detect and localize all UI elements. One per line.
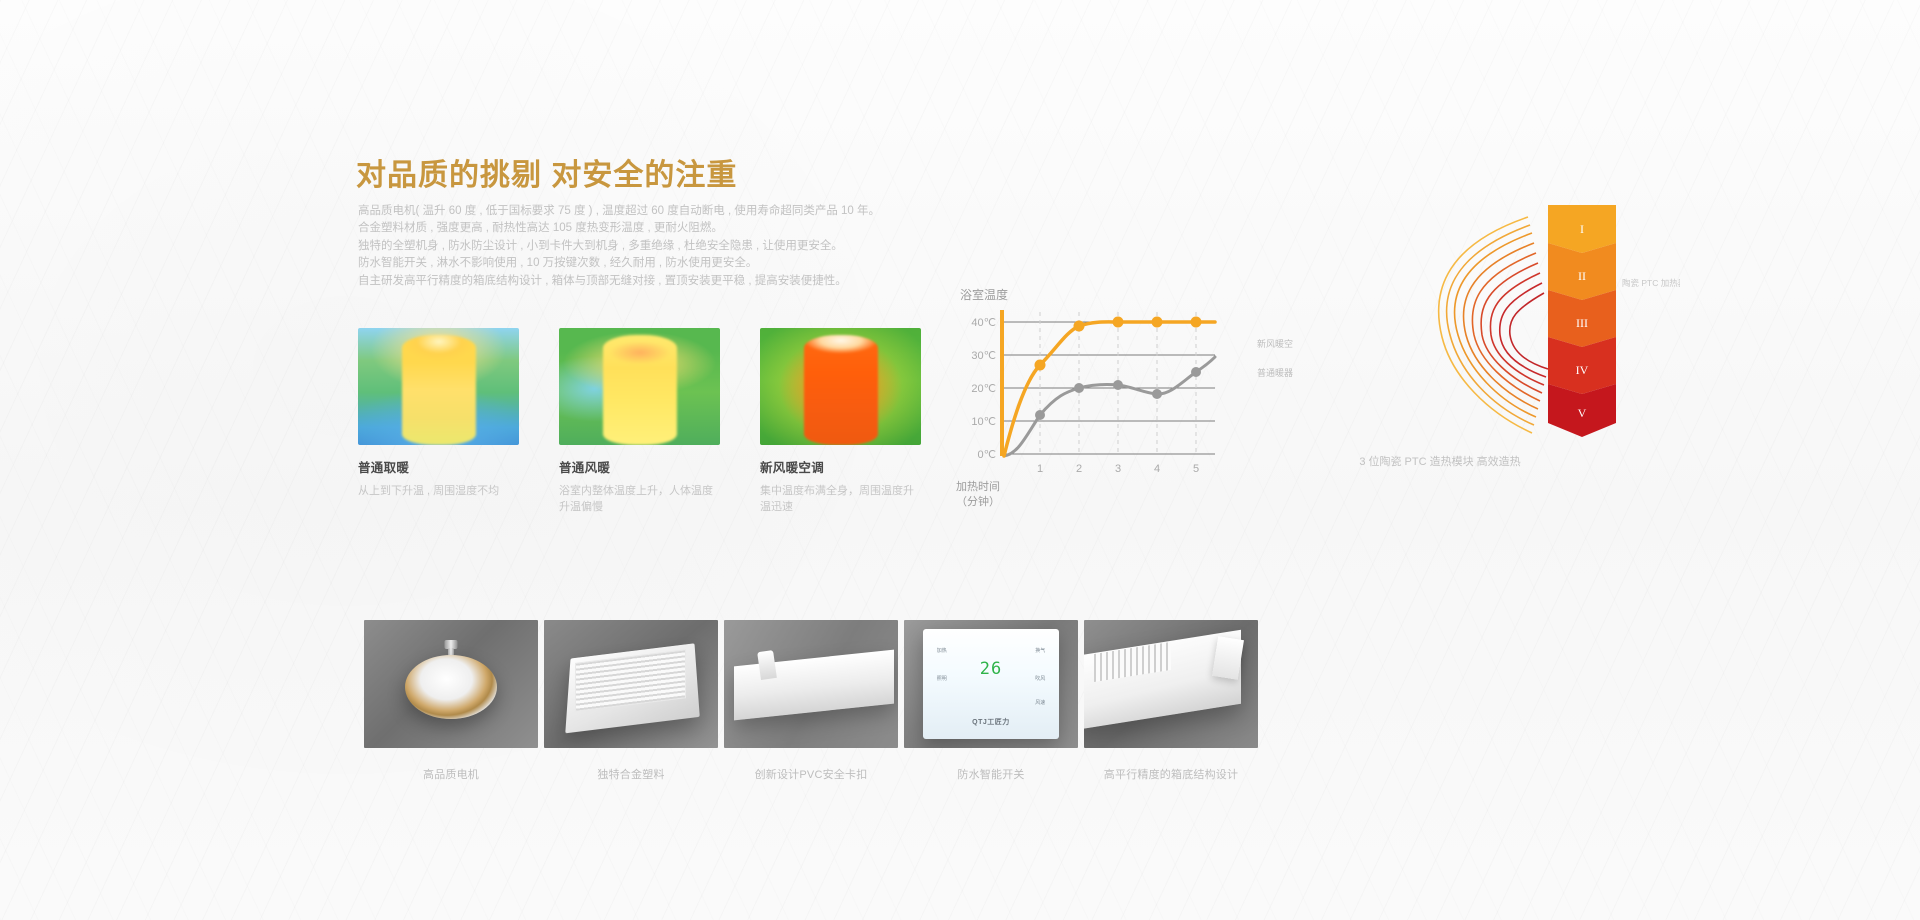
gallery-caption: 独特合金塑料 xyxy=(544,766,718,782)
gallery-caption: 高平行精度的箱底结构设计 xyxy=(1084,766,1258,782)
chart-plot-area: 40℃ 30℃ 20℃ 10℃ 0℃ 1 2 3 4 5 xyxy=(960,304,1260,484)
ptc-caption: 3 位陶瓷 PTC 造热模块 高效造热 xyxy=(1290,453,1590,469)
thermal-card-title: 普通取暖 xyxy=(358,457,519,476)
ptc-numeral-3: III xyxy=(1576,316,1588,330)
svg-text:3: 3 xyxy=(1115,463,1121,475)
ptc-module-label: 陶瓷 PTC 加热器 xyxy=(1622,278,1680,288)
gallery-image-motor xyxy=(364,620,538,748)
chart-legend-ordinary: 普通暖器 xyxy=(1257,366,1293,379)
thermal-image-ordinary-heating xyxy=(358,328,519,445)
svg-text:2: 2 xyxy=(1076,463,1082,475)
human-figure-silhouette xyxy=(803,335,877,445)
gallery-caption: 高品质电机 xyxy=(364,766,538,782)
thermal-card-desc: 从上到下升温 , 周围湿度不均 xyxy=(358,483,516,499)
motor-body xyxy=(405,655,497,719)
svg-text:20℃: 20℃ xyxy=(971,383,996,395)
safety-clip xyxy=(757,650,777,680)
thermal-card-2: 普通风暖 浴室内整体温度上升，人体温度升温偏慢 xyxy=(559,328,720,515)
ptc-numeral-2: II xyxy=(1578,269,1586,283)
thermal-card-1: 普通取暖 从上到下升温 , 周围湿度不均 xyxy=(358,328,519,515)
ptc-module-graphic: I II III IV V 陶瓷 PTC 加热器 xyxy=(1380,185,1680,455)
thermal-card-desc: 浴室内整体温度上升，人体温度升温偏慢 xyxy=(559,483,717,515)
svg-text:30℃: 30℃ xyxy=(971,350,996,362)
gallery-image-pvc-clip xyxy=(724,620,898,748)
thermal-card-title: 普通风暖 xyxy=(559,457,720,476)
chart-x-axis-title: 加热时间（分钟） xyxy=(956,480,1000,510)
svg-text:5: 5 xyxy=(1193,463,1199,475)
switch-temperature-display: 26 xyxy=(980,659,1002,679)
switch-key-ventilation[interactable]: 换气 xyxy=(1035,647,1045,654)
chart-legend-freshair: 新风暖空 xyxy=(1257,337,1293,350)
ptc-numeral-5: V xyxy=(1578,406,1587,420)
heat-wave-arcs xyxy=(1439,217,1548,433)
switch-key-lighting[interactable]: 照明 xyxy=(937,675,947,682)
thermal-image-fresh-air-heating xyxy=(760,328,921,445)
page-title: 对品质的挑剔 对安全的注重 xyxy=(356,150,737,194)
ptc-heater-module: I II III IV V 陶瓷 PTC 加热器 3 位陶瓷 PTC 造热模块 … xyxy=(1380,185,1680,455)
chart-y-axis-title: 浴室温度 xyxy=(960,286,1008,303)
chart-series-line-freshair xyxy=(1004,322,1215,456)
switch-key-fanspeed[interactable]: 风速 xyxy=(1035,699,1045,706)
thermal-comparison-row: 普通取暖 从上到下升温 , 周围湿度不均 普通风暖 浴室内整体温度上升，人体温度… xyxy=(358,328,921,515)
gallery-item-alloy-plastic[interactable]: 独特合金塑料 xyxy=(544,620,718,782)
switch-key-heating[interactable]: 加热 xyxy=(937,647,947,654)
switch-faceplate: 加热 换气 照明 吹风 风速 26 QTJ工匠力 xyxy=(923,629,1059,739)
switch-brand-logo: QTJ工匠力 xyxy=(972,717,1010,727)
svg-text:4: 4 xyxy=(1154,463,1160,475)
body-line-5: 自主研发高平行精度的箱底结构设计 , 箱体与顶部无缝对接 , 置顶安装更平稳 ,… xyxy=(358,273,978,290)
svg-text:0℃: 0℃ xyxy=(978,449,996,461)
temperature-chart: 浴室温度 加热时间（分钟） 40℃ xyxy=(960,290,1310,490)
gallery-item-waterproof-switch[interactable]: 加热 换气 照明 吹风 风速 26 QTJ工匠力 防水智能开关 xyxy=(904,620,1078,782)
thermal-card-title: 新风暖空调 xyxy=(760,457,921,476)
gallery-caption: 创新设计PVC安全卡扣 xyxy=(724,766,898,782)
gallery-item-motor[interactable]: 高品质电机 xyxy=(364,620,538,782)
chart-gridlines-horizontal xyxy=(1002,322,1215,454)
svg-text:1: 1 xyxy=(1037,463,1043,475)
gallery-item-chassis-design[interactable]: 高平行精度的箱底结构设计 xyxy=(1084,620,1258,782)
thermal-card-desc: 集中温度布满全身，周围温度升温迅速 xyxy=(760,483,918,515)
chart-x-tick-labels: 1 2 3 4 5 xyxy=(1037,463,1199,475)
page-root: 对品质的挑剔 对安全的注重 高品质电机( 温升 60 度 , 低于国标要求 75… xyxy=(0,0,1920,920)
ptc-numeral-4: IV xyxy=(1576,363,1589,377)
switch-key-blower[interactable]: 吹风 xyxy=(1035,675,1045,682)
svg-text:40℃: 40℃ xyxy=(971,317,996,329)
thermal-card-3: 新风暖空调 集中温度布满全身，周围温度升温迅速 xyxy=(760,328,921,515)
gallery-image-alloy-plastic xyxy=(544,620,718,748)
body-line-4: 防水智能开关 , 淋水不影响使用 , 10 万按键次数 , 经久耐用 , 防水使… xyxy=(358,255,978,272)
thermal-image-ordinary-wind-heating xyxy=(559,328,720,445)
gallery-image-chassis-design xyxy=(1084,620,1258,748)
svg-text:10℃: 10℃ xyxy=(971,416,996,428)
body-line-1: 高品质电机( 温升 60 度 , 低于国标要求 75 度 ) , 温度超过 60… xyxy=(358,203,978,220)
body-line-3: 独特的全塑机身 , 防水防尘设计 , 小到卡件大到机身 , 多重绝缘 , 杜绝安… xyxy=(358,238,978,255)
ptc-numeral-1: I xyxy=(1580,222,1584,236)
gallery-image-waterproof-switch: 加热 换气 照明 吹风 风速 26 QTJ工匠力 xyxy=(904,620,1078,748)
product-gallery: 高品质电机 独特合金塑料 创新设计PVC安全卡扣 加热 换气 照明 吹 xyxy=(364,620,1258,782)
human-figure-silhouette xyxy=(602,335,676,445)
chart-y-tick-labels: 40℃ 30℃ 20℃ 10℃ 0℃ xyxy=(971,317,996,461)
body-line-2: 合金塑料材质 , 强度更高 , 耐热性高达 105 度热变形温度 , 更耐火阻燃… xyxy=(358,220,978,237)
body-copy: 高品质电机( 温升 60 度 , 低于国标要求 75 度 ) , 温度超过 60… xyxy=(358,203,978,290)
gallery-item-pvc-clip[interactable]: 创新设计PVC安全卡扣 xyxy=(724,620,898,782)
gallery-caption: 防水智能开关 xyxy=(904,766,1078,782)
human-figure-silhouette xyxy=(401,335,475,445)
